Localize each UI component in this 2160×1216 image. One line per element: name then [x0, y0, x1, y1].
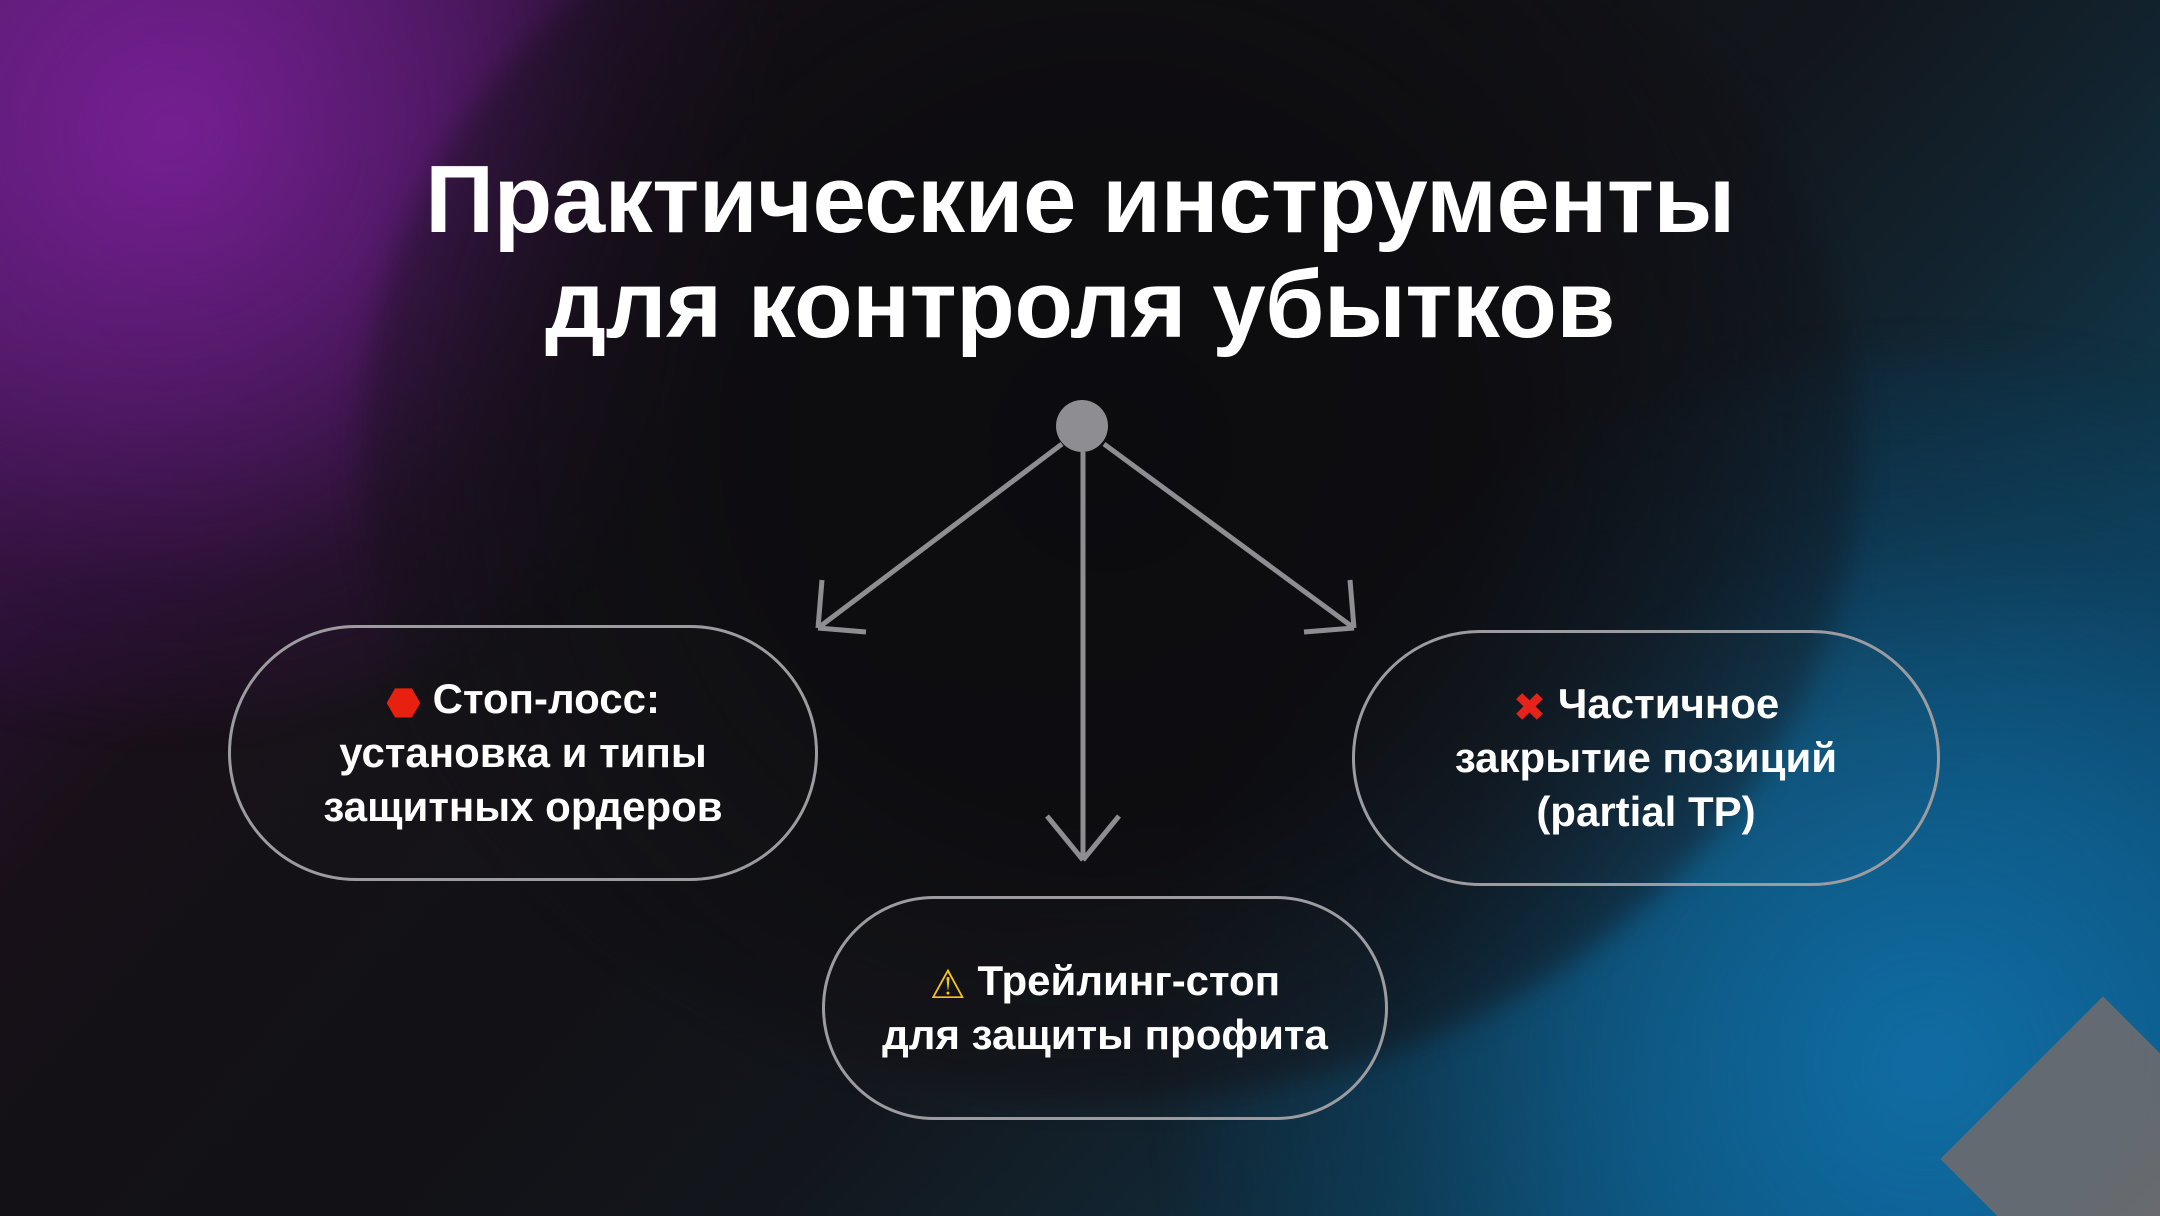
slide-canvas: Практические инструменты для контроля уб…: [0, 0, 2160, 1216]
node-card-partial-tp[interactable]: ✖ Частичное закрытие позиций (partial TP…: [1352, 630, 1940, 886]
slide-title-line-1: Практические инструменты: [0, 148, 2160, 253]
stop-loss-line-1: ⬣ Стоп-лосс:: [323, 672, 722, 726]
node-card-trailing-stop[interactable]: ⚠ Трейлинг-стоп для защиты профита: [822, 896, 1388, 1120]
partial-tp-line-3: (partial TP): [1455, 785, 1837, 839]
partial-tp-line-2: закрытие позиций: [1455, 731, 1837, 785]
partial-tp-line-1: ✖ Частичное: [1455, 677, 1837, 731]
trailing-stop-line-1: ⚠ Трейлинг-стоп: [882, 954, 1328, 1008]
trailing-stop-line-2: для защиты профита: [882, 1008, 1328, 1062]
slide-title: Практические инструменты для контроля уб…: [0, 148, 2160, 357]
node-card-stop-loss[interactable]: ⬣ Стоп-лосс: установка и типы защитных о…: [228, 625, 818, 881]
stop-sign-icon: ⬣: [386, 680, 421, 726]
warning-triangle-icon: ⚠: [930, 962, 966, 1008]
stop-loss-line-2: установка и типы: [323, 726, 722, 780]
red-cross-mark-icon: ✖: [1513, 685, 1547, 731]
stop-loss-line-3: защитных ордеров: [323, 780, 722, 834]
slide-title-line-2: для контроля убытков: [0, 253, 2160, 358]
